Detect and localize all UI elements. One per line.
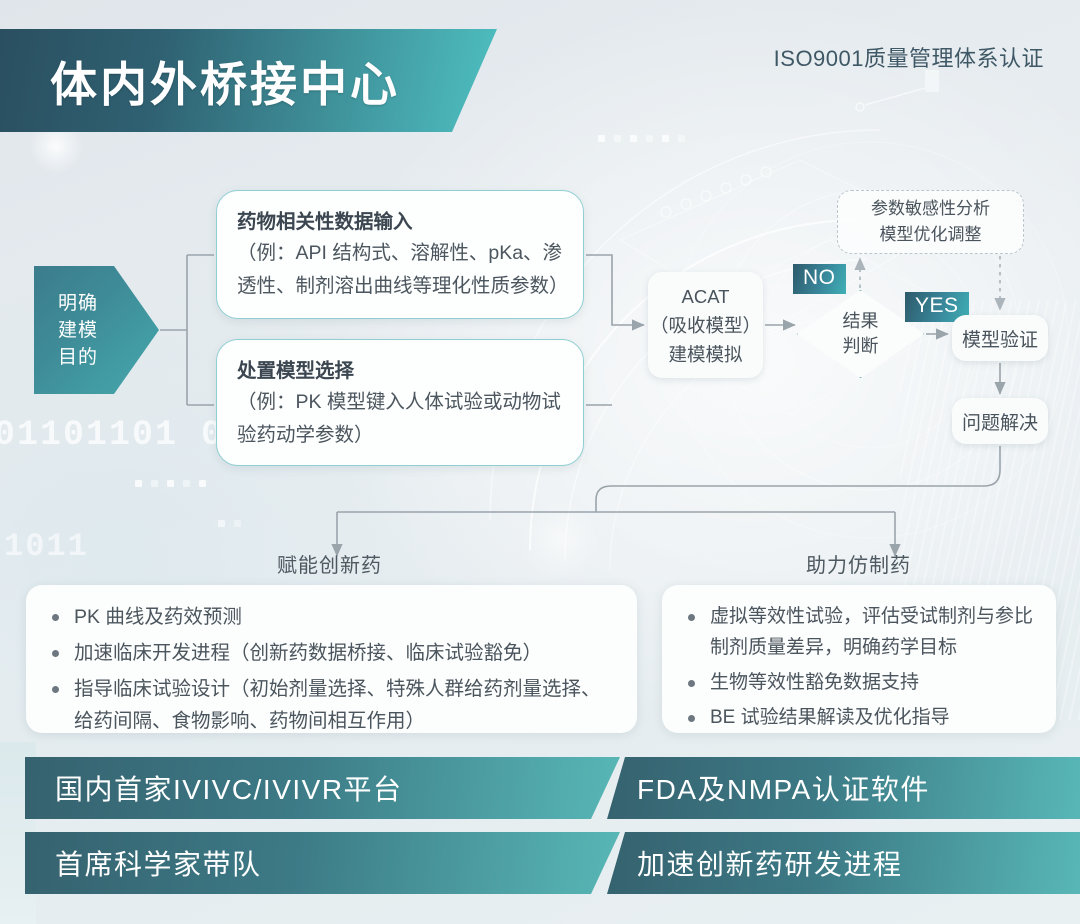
flow-start-line-3: 目的: [58, 344, 98, 371]
banner-label: 国内首家IVIVC/IVIVR平台: [55, 768, 403, 808]
node-sensitivity-analysis: 参数敏感性分析 模型优化调整: [837, 190, 1024, 254]
card-drug-data-input-heading: 药物相关性数据输入: [237, 207, 565, 237]
flow-start-line-2: 建模: [58, 317, 98, 344]
pixel-dots-lower-left: [218, 520, 241, 527]
flow-start-chevron: 明确 建模 目的: [34, 266, 159, 394]
banner-label: FDA及NMPA认证软件: [637, 768, 930, 808]
sensitivity-line-2: 模型优化调整: [880, 222, 982, 248]
card-drug-data-input: 药物相关性数据输入 （例：API 结构式、溶解性、pKa、渗透性、制剂溶出曲线等…: [216, 190, 584, 319]
banner-ivivc-platform: 国内首家IVIVC/IVIVR平台: [25, 757, 620, 819]
node-acat-line-3: 建模模拟: [668, 340, 742, 369]
node-problem-resolution: 问题解决: [952, 398, 1048, 444]
decision-line-1: 结果: [843, 309, 879, 334]
banner-chief-scientist-team: 首席科学家带队: [25, 832, 620, 894]
outcome-title-innovative-drugs: 赋能创新药: [277, 549, 382, 578]
card-drug-data-input-body: （例：API 结构式、溶解性、pKa、渗透性、制剂溶出曲线等理化性质参数）: [237, 237, 565, 303]
infographic-canvas: 01101101 0101 1011 体内外桥接中心 ISO9001质量管理体系…: [0, 0, 1080, 924]
list-item: 虚拟等效性试验，评估受试制剂与参比制剂质量差异，明确药学目标: [684, 601, 1038, 663]
outcome-list-innovative-drugs: PK 曲线及药效预测 加速临床开发进程（创新药数据桥接、临床试验豁免） 指导临床…: [26, 585, 637, 733]
binary-text-secondary: 1011: [4, 528, 89, 565]
outcome-list-generic-drugs: 虚拟等效性试验，评估受试制剂与参比制剂质量差异，明确药学目标 生物等效性豁免数据…: [662, 585, 1056, 733]
title-banner: 体内外桥接中心: [0, 29, 497, 132]
banner-label: 加速创新药研发进程: [637, 843, 903, 883]
list-item: 指导临床试验设计（初始剂量选择、特殊人群给药剂量选择、给药间隔、食物影响、药物间…: [48, 673, 619, 737]
banner-fda-nmpa-software: FDA及NMPA认证软件: [607, 757, 1080, 819]
pixel-dots-left: [135, 480, 206, 487]
list-item: BE 试验结果解读及优化指导: [684, 702, 1038, 733]
card-disposition-model: 处置模型选择 （例：PK 模型键入人体试验或动物试验药动学参数）: [216, 339, 584, 466]
page-title: 体内外桥接中心: [50, 46, 400, 115]
card-disposition-model-body: （例：PK 模型键入人体试验或动物试验药动学参数）: [237, 386, 565, 452]
sensitivity-line-1: 参数敏感性分析: [871, 196, 990, 222]
pixel-dots-top: [598, 135, 685, 142]
node-acat-model: ACAT （吸收模型） 建模模拟: [648, 272, 763, 378]
banner-label: 首席科学家带队: [55, 843, 262, 883]
certification-label: ISO9001质量管理体系认证: [774, 41, 1044, 73]
list-item: 加速临床开发进程（创新药数据桥接、临床试验豁免）: [48, 637, 619, 669]
outcome-title-generic-drugs: 助力仿制药: [806, 549, 911, 578]
flow-start-line-1: 明确: [58, 290, 98, 317]
node-acat-line-2: （吸收模型）: [650, 311, 761, 340]
glow-spot-3: [520, 500, 600, 580]
list-item: 生物等效性豁免数据支持: [684, 667, 1038, 698]
decision-line-2: 判断: [843, 334, 879, 359]
node-model-validation: 模型验证: [952, 315, 1048, 361]
card-disposition-model-heading: 处置模型选择: [237, 356, 565, 386]
banner-accelerate-rnd: 加速创新药研发进程: [607, 832, 1080, 894]
list-item: PK 曲线及药效预测: [48, 601, 619, 633]
node-acat-line-1: ACAT: [682, 282, 730, 311]
